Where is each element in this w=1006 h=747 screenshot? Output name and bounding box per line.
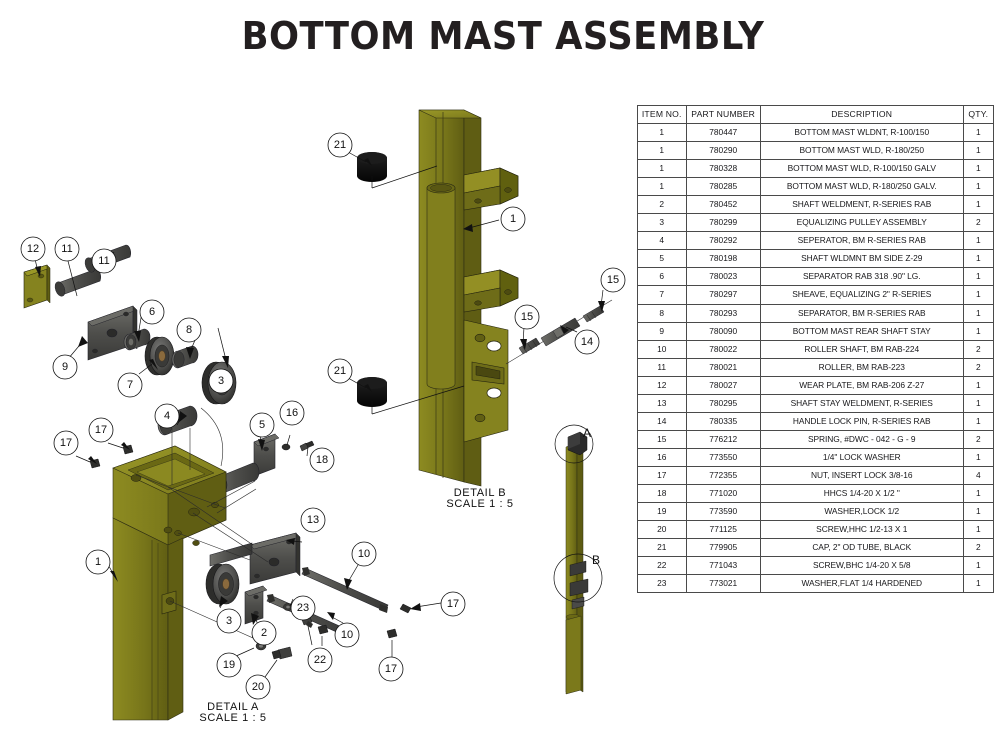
svg-text:8: 8 (186, 324, 192, 336)
bom-cell-qty: 1 (963, 232, 993, 250)
bom-cell-part-number: 780292 (686, 232, 760, 250)
nut-17-e (387, 629, 397, 638)
table-row: 8780293SEPARATOR, BM R-SERIES RAB1 (638, 304, 994, 322)
bom-cell-item: 1 (638, 178, 687, 196)
bom-cell-part-number: 780328 (686, 160, 760, 178)
bom-cell-description: BOTTOM MAST WLDNT, R-100/150 (760, 124, 963, 142)
bom-cell-description: WASHER,LOCK 1/2 (760, 503, 963, 521)
svg-text:3: 3 (226, 615, 232, 627)
bom-cell-part-number: 773021 (686, 575, 760, 593)
balloon-13[interactable]: 13 (301, 508, 325, 532)
svg-text:1: 1 (510, 213, 516, 225)
bom-cell-part-number: 772355 (686, 466, 760, 484)
bom-cell-item: 1 (638, 142, 687, 160)
bom-cell-item: 20 (638, 521, 687, 539)
bom-cell-description: SEPARATOR, BM R-SERIES RAB (760, 304, 963, 322)
balloon-6[interactable]: 6 (140, 300, 164, 324)
header-qty: QTY. (963, 106, 993, 124)
balloon-22[interactable]: 22 (308, 648, 332, 672)
balloon-1-base[interactable]: 1 (86, 550, 110, 574)
svg-text:2: 2 (261, 627, 267, 639)
table-row: 15776212SPRING, #DWC - 042 - G - 92 (638, 430, 994, 448)
bom-cell-item: 6 (638, 268, 687, 286)
bom-cell-item: 22 (638, 557, 687, 575)
svg-text:14: 14 (581, 336, 593, 348)
balloon-2[interactable]: 2 (252, 621, 276, 645)
svg-text:4: 4 (164, 410, 170, 422)
table-row: 13780295SHAFT STAY WELDMENT, R-SERIES1 (638, 394, 994, 412)
bom-cell-qty: 1 (963, 448, 993, 466)
bom-cell-qty: 1 (963, 484, 993, 502)
svg-text:21: 21 (334, 139, 346, 151)
bom-cell-part-number: 780295 (686, 394, 760, 412)
balloon-9[interactable]: 9 (53, 355, 77, 379)
table-row: 167735501/4" LOCK WASHER1 (638, 448, 994, 466)
balloon-19[interactable]: 19 (217, 653, 241, 677)
bom-cell-description: SPRING, #DWC - 042 - G - 9 (760, 430, 963, 448)
table-row: 11780021ROLLER, BM RAB-2232 (638, 358, 994, 376)
lower-bracket (464, 270, 518, 312)
bom-cell-description: ROLLER SHAFT, BM RAB-224 (760, 340, 963, 358)
bom-cell-item: 1 (638, 160, 687, 178)
balloon-11-a[interactable]: 11 (55, 237, 79, 261)
table-body: 1780447BOTTOM MAST WLDNT, R-100/15011780… (638, 124, 994, 593)
bom-cell-qty: 1 (963, 557, 993, 575)
bom-cell-part-number: 780090 (686, 322, 760, 340)
bom-cell-description: WASHER,FLAT 1/4 HARDENED (760, 575, 963, 593)
bom-cell-item: 8 (638, 304, 687, 322)
table-row: 21779905CAP, 2" OD TUBE, BLACK2 (638, 539, 994, 557)
bom-cell-qty: 4 (963, 466, 993, 484)
svg-text:11: 11 (98, 255, 109, 267)
svg-text:17: 17 (447, 598, 459, 610)
bom-cell-item: 10 (638, 340, 687, 358)
balloon-17-b[interactable]: 17 (89, 418, 113, 442)
bom-cell-item: 21 (638, 539, 687, 557)
balloon-21-lower[interactable]: 21 (328, 359, 352, 383)
bom-cell-description: BOTTOM MAST WLD, R-180/250 GALV. (760, 178, 963, 196)
bom-cell-description: BOTTOM MAST REAR SHAFT STAY (760, 322, 963, 340)
bom-cell-part-number: 780198 (686, 250, 760, 268)
bom-cell-item: 9 (638, 322, 687, 340)
table-row: 12780027WEAR PLATE, BM RAB-206 Z-271 (638, 376, 994, 394)
svg-text:7: 7 (127, 379, 133, 391)
bom-cell-item: 13 (638, 394, 687, 412)
bom-cell-item: 3 (638, 214, 687, 232)
bom-cell-qty: 1 (963, 304, 993, 322)
bom-cell-description: SCREW,HHC 1/2-13 X 1 (760, 521, 963, 539)
table-row: 19773590WASHER,LOCK 1/21 (638, 503, 994, 521)
inner-tube (427, 183, 455, 389)
svg-text:1: 1 (95, 556, 101, 568)
bom-cell-qty: 1 (963, 286, 993, 304)
bom-cell-description: HHCS 1/4-20 X 1/2 " (760, 484, 963, 502)
svg-text:20: 20 (252, 681, 264, 693)
svg-text:6: 6 (149, 306, 155, 318)
bom-cell-item: 11 (638, 358, 687, 376)
bom-cell-description: 1/4" LOCK WASHER (760, 448, 963, 466)
bom-cell-item: 17 (638, 466, 687, 484)
balloon-17-a[interactable]: 17 (54, 431, 78, 455)
nut-17-d (400, 604, 411, 613)
svg-text:21: 21 (334, 365, 346, 377)
bom-cell-description: HANDLE LOCK PIN, R-SERIES RAB (760, 412, 963, 430)
bom-cell-qty: 1 (963, 322, 993, 340)
bom-cell-part-number: 780290 (686, 142, 760, 160)
svg-text:22: 22 (314, 654, 326, 666)
detail-b-scale: SCALE 1 : 5 (446, 498, 513, 510)
table-row: 18771020HHCS 1/4-20 X 1/2 "1 (638, 484, 994, 502)
table-row: 1780447BOTTOM MAST WLDNT, R-100/1501 (638, 124, 994, 142)
sheave-7 (145, 337, 174, 375)
bom-cell-item: 23 (638, 575, 687, 593)
table-row: 4780292SEPERATOR, BM R-SERIES RAB1 (638, 232, 994, 250)
bom-cell-item: 4 (638, 232, 687, 250)
balloon-11-b[interactable]: 11 (92, 249, 116, 273)
bom-cell-qty: 1 (963, 412, 993, 430)
balloon-16[interactable]: 16 (280, 401, 304, 425)
bom-cell-item: 5 (638, 250, 687, 268)
bom-cell-part-number: 773590 (686, 503, 760, 521)
hhcs-18 (300, 441, 314, 451)
lock-washer-16 (282, 444, 290, 450)
bom-cell-qty: 2 (963, 430, 993, 448)
bom-cell-qty: 1 (963, 394, 993, 412)
bom-cell-qty: 1 (963, 250, 993, 268)
table-row: 1780290BOTTOM MAST WLD, R-180/2501 (638, 142, 994, 160)
balloon-4[interactable]: 4 (155, 404, 179, 428)
balloon-10-lower[interactable]: 10 (335, 623, 359, 647)
balloon-10-upper[interactable]: 10 (352, 542, 376, 566)
bom-cell-part-number: 780335 (686, 412, 760, 430)
nut-17-c (318, 625, 328, 634)
bom-cell-description: SCREW,BHC 1/4-20 X 5/8 (760, 557, 963, 575)
bom-cell-qty: 1 (963, 521, 993, 539)
bom-cell-item: 19 (638, 503, 687, 521)
bom-cell-description: ROLLER, BM RAB-223 (760, 358, 963, 376)
bom-cell-qty: 1 (963, 178, 993, 196)
handle-mount-plate (464, 320, 508, 442)
bom-cell-description: SHAFT WLDMNT BM SIDE Z-29 (760, 250, 963, 268)
balloon-7[interactable]: 7 (118, 373, 142, 397)
svg-text:23: 23 (297, 602, 309, 614)
bom-cell-description: SEPERATOR, BM R-SERIES RAB (760, 232, 963, 250)
bom-cell-part-number: 780023 (686, 268, 760, 286)
bom-cell-description: SHAFT WELDMENT, R-SERIES RAB (760, 196, 963, 214)
bom-cell-part-number: 780293 (686, 304, 760, 322)
bom-cell-description: BOTTOM MAST WLD, R-100/150 GALV (760, 160, 963, 178)
detail-a-scale: SCALE 1 : 5 (199, 712, 266, 724)
bom-cell-description: WEAR PLATE, BM RAB-206 Z-27 (760, 376, 963, 394)
bom-cell-description: SHEAVE, EQUALIZING 2" R-SERIES (760, 286, 963, 304)
bom-cell-part-number: 771020 (686, 484, 760, 502)
table-row: 20771125SCREW,HHC 1/2-13 X 11 (638, 521, 994, 539)
shaft-stay-9 (88, 306, 137, 360)
bom-cell-part-number: 780452 (686, 196, 760, 214)
svg-text:17: 17 (95, 424, 107, 436)
wear-plate-12 (24, 265, 50, 308)
bom-cell-qty: 1 (963, 196, 993, 214)
svg-text:12: 12 (27, 243, 39, 255)
upper-bracket (464, 168, 518, 210)
overview-mast: A B (554, 425, 602, 694)
balloon-12[interactable]: 12 (21, 237, 45, 261)
svg-text:15: 15 (607, 274, 619, 286)
drawing-sheet: BOTTOM MAST ASSEMBLY (0, 0, 1006, 747)
balloon-5[interactable]: 5 (250, 413, 274, 437)
svg-text:3: 3 (218, 375, 224, 387)
bom-cell-item: 18 (638, 484, 687, 502)
svg-text:9: 9 (62, 361, 68, 373)
bom-cell-qty: 2 (963, 214, 993, 232)
bom-cell-qty: 1 (963, 160, 993, 178)
bom-cell-qty: 1 (963, 503, 993, 521)
balloon-21-upper[interactable]: 21 (328, 133, 352, 157)
table-row: 2780452SHAFT WELDMENT, R-SERIES RAB1 (638, 196, 994, 214)
table-row: 17772355NUT, INSERT LOCK 3/8-164 (638, 466, 994, 484)
bom-cell-description: SEPARATOR RAB 318 .90" LG. (760, 268, 963, 286)
bom-cell-part-number: 773550 (686, 448, 760, 466)
balloon-15-right[interactable]: 15 (601, 268, 625, 292)
screw-20 (272, 647, 292, 659)
balloon-1-mast[interactable]: 1 (501, 207, 525, 231)
bom-cell-qty: 1 (963, 268, 993, 286)
svg-text:11: 11 (61, 243, 72, 255)
bom-cell-part-number: 780285 (686, 178, 760, 196)
callout-label-a: A (583, 426, 591, 440)
bill-of-materials-table: ITEM NO. PART NUMBER DESCRIPTION QTY. 17… (637, 105, 994, 593)
table-row: 9780090BOTTOM MAST REAR SHAFT STAY1 (638, 322, 994, 340)
table-row: 23773021WASHER,FLAT 1/4 HARDENED1 (638, 575, 994, 593)
bom-cell-part-number: 780447 (686, 124, 760, 142)
bom-cell-part-number: 780299 (686, 214, 760, 232)
roller-11-upper (53, 269, 100, 298)
table-row: 14780335HANDLE LOCK PIN, R-SERIES RAB1 (638, 412, 994, 430)
balloon-20[interactable]: 20 (246, 675, 270, 699)
bom-cell-item: 14 (638, 412, 687, 430)
table-row: 1780285BOTTOM MAST WLD, R-180/250 GALV.1 (638, 178, 994, 196)
callout-label-b: B (592, 553, 600, 567)
balloon-17-d[interactable]: 17 (379, 657, 403, 681)
balloon-8[interactable]: 8 (177, 318, 201, 342)
bom-cell-part-number: 780027 (686, 376, 760, 394)
bom-cell-qty: 1 (963, 376, 993, 394)
table-row: 10780022ROLLER SHAFT, BM RAB-2242 (638, 340, 994, 358)
svg-text:16: 16 (286, 407, 298, 419)
svg-text:18: 18 (316, 454, 328, 466)
balloon-15-left[interactable]: 15 (515, 305, 539, 329)
separator-8 (172, 346, 198, 368)
balloon-18[interactable]: 18 (310, 448, 334, 472)
svg-text:5: 5 (259, 419, 265, 431)
bom-cell-qty: 2 (963, 358, 993, 376)
bom-cell-part-number: 776212 (686, 430, 760, 448)
bom-cell-qty: 2 (963, 539, 993, 557)
bom-cell-item: 12 (638, 376, 687, 394)
svg-text:15: 15 (521, 311, 533, 323)
table-row: 7780297SHEAVE, EQUALIZING 2" R-SERIES1 (638, 286, 994, 304)
bom-cell-qty: 1 (963, 124, 993, 142)
bom-cell-item: 7 (638, 286, 687, 304)
bom-cell-part-number: 780022 (686, 340, 760, 358)
bom-cell-description: NUT, INSERT LOCK 3/8-16 (760, 466, 963, 484)
balloon-17-c[interactable]: 17 (441, 592, 465, 616)
bom-cell-part-number: 780021 (686, 358, 760, 376)
bom-cell-description: SHAFT STAY WELDMENT, R-SERIES (760, 394, 963, 412)
svg-text:17: 17 (385, 663, 397, 675)
svg-text:10: 10 (358, 548, 370, 560)
bom-cell-part-number: 771125 (686, 521, 760, 539)
table-header-row: ITEM NO. PART NUMBER DESCRIPTION QTY. (638, 106, 994, 124)
lock-pin (541, 318, 580, 346)
header-description: DESCRIPTION (760, 106, 963, 124)
bom-cell-qty: 1 (963, 142, 993, 160)
svg-text:17: 17 (60, 437, 72, 449)
bom-cell-part-number: 771043 (686, 557, 760, 575)
bom-cell-item: 1 (638, 124, 687, 142)
table-row: 22771043SCREW,BHC 1/4-20 X 5/81 (638, 557, 994, 575)
bom-cell-description: CAP, 2" OD TUBE, BLACK (760, 539, 963, 557)
balloon-23[interactable]: 23 (291, 596, 315, 620)
balloon-14[interactable]: 14 (575, 330, 599, 354)
bom-cell-item: 15 (638, 430, 687, 448)
balloon-3-upper[interactable]: 3 (209, 369, 233, 393)
bom-cell-description: BOTTOM MAST WLD, R-180/250 (760, 142, 963, 160)
svg-text:13: 13 (307, 514, 319, 526)
bom-cell-qty: 2 (963, 340, 993, 358)
svg-text:19: 19 (223, 659, 235, 671)
bom-cell-item: 2 (638, 196, 687, 214)
bom-cell-part-number: 780297 (686, 286, 760, 304)
svg-text:10: 10 (341, 629, 353, 641)
bom-cell-qty: 1 (963, 575, 993, 593)
bom-cell-description: EQUALIZING PULLEY ASSEMBLY (760, 214, 963, 232)
table-row: 5780198SHAFT WLDMNT BM SIDE Z-291 (638, 250, 994, 268)
header-part-number: PART NUMBER (686, 106, 760, 124)
balloon-3-lower[interactable]: 3 (217, 609, 241, 633)
table-row: 3780299EQUALIZING PULLEY ASSEMBLY2 (638, 214, 994, 232)
bom-cell-part-number: 779905 (686, 539, 760, 557)
table-row: 6780023SEPARATOR RAB 318 .90" LG.1 (638, 268, 994, 286)
header-item-no: ITEM NO. (638, 106, 687, 124)
bom-cell-item: 16 (638, 448, 687, 466)
table-row: 1780328BOTTOM MAST WLD, R-100/150 GALV1 (638, 160, 994, 178)
